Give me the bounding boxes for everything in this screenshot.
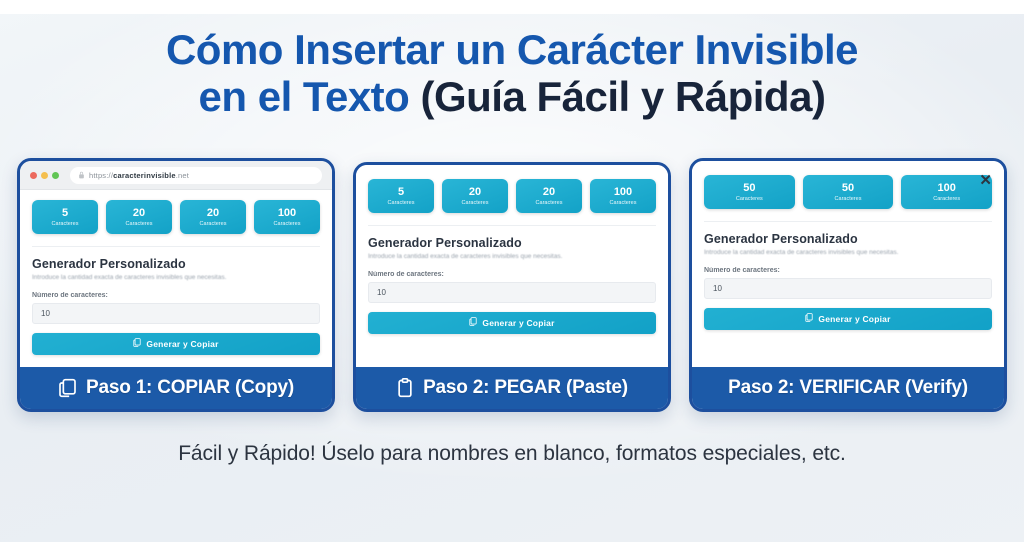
preset-label: Caracteres bbox=[805, 196, 892, 203]
url-suffix: .net bbox=[176, 171, 189, 180]
preset-number: 100 bbox=[592, 186, 654, 198]
character-count-input[interactable]: 10 bbox=[368, 282, 656, 303]
step-card-2[interactable]: 5 Caracteres 20 Caracteres 20 Caracteres bbox=[353, 162, 671, 412]
section-divider bbox=[704, 221, 992, 222]
browser-chrome-bar: https://caracterinvisible.net bbox=[20, 161, 332, 190]
section-divider bbox=[32, 246, 320, 247]
title-line-2-blue: en el Texto bbox=[199, 73, 421, 120]
preset-number: 20 bbox=[108, 207, 170, 219]
character-count-input[interactable]: 10 bbox=[32, 303, 320, 324]
url-domain: caracterinvisible bbox=[113, 171, 176, 180]
maximize-window-dot[interactable] bbox=[52, 172, 59, 179]
step-footer-label: Paso 2: VERIFICAR (Verify) bbox=[728, 377, 968, 399]
preset-tiles-1: 5 Caracteres 20 Caracteres 20 Caracteres bbox=[32, 200, 320, 234]
preset-number: 5 bbox=[370, 186, 432, 198]
preset-label: Caracteres bbox=[518, 200, 580, 207]
generate-button-label: Generar y Copiar bbox=[818, 314, 890, 324]
clipboard-icon bbox=[396, 378, 414, 398]
preset-label: Caracteres bbox=[370, 200, 432, 207]
bottom-caption: Fácil y Rápido! Úselo para nombres en bl… bbox=[0, 442, 1024, 466]
generate-button-label: Generar y Copiar bbox=[146, 339, 218, 349]
step-footer-3: Paso 2: VERIFICAR (Verify) bbox=[692, 367, 1004, 409]
preset-number: 50 bbox=[805, 182, 892, 194]
preset-label: Caracteres bbox=[903, 196, 990, 203]
preset-number: 100 bbox=[903, 182, 990, 194]
close-window-dot[interactable] bbox=[30, 172, 37, 179]
content-layer: Cómo Insertar un Carácter Invisible en e… bbox=[0, 0, 1024, 560]
preset-label: Caracteres bbox=[592, 200, 654, 207]
character-count-label: Número de caracteres: bbox=[32, 292, 320, 299]
preset-tile[interactable]: 20 Caracteres bbox=[442, 179, 508, 213]
lock-icon bbox=[78, 166, 85, 184]
preset-tiles-2: 5 Caracteres 20 Caracteres 20 Caracteres bbox=[368, 179, 656, 213]
step-card-3[interactable]: 50 Caracteres 50 Caracteres 100 Caracter… bbox=[689, 158, 1007, 412]
generator-subtitle: Introduce la cantidad exacta de caracter… bbox=[704, 249, 992, 257]
preset-label: Caracteres bbox=[256, 221, 318, 228]
preset-tile[interactable]: 20 Caracteres bbox=[106, 200, 172, 234]
preset-tile[interactable]: 20 Caracteres bbox=[180, 200, 246, 234]
browser-address-bar[interactable]: https://caracterinvisible.net bbox=[70, 167, 322, 184]
browser-url-text: https://caracterinvisible.net bbox=[89, 171, 189, 180]
step-footer-1: Paso 1: COPIAR (Copy) bbox=[20, 367, 332, 409]
preset-label: Caracteres bbox=[34, 221, 96, 228]
preset-tile[interactable]: 5 Caracteres bbox=[32, 200, 98, 234]
generator-panel-1: 5 Caracteres 20 Caracteres 20 Caracteres bbox=[20, 190, 332, 367]
character-count-input[interactable]: 10 bbox=[704, 278, 992, 299]
preset-label: Caracteres bbox=[108, 221, 170, 228]
generator-subtitle: Introduce la cantidad exacta de caracter… bbox=[32, 274, 320, 282]
character-count-label: Número de caracteres: bbox=[368, 271, 656, 278]
title-line-2-dark: (Guía Fácil y Rápida) bbox=[421, 73, 826, 120]
preset-number: 20 bbox=[444, 186, 506, 198]
preset-number: 20 bbox=[182, 207, 244, 219]
copy-icon bbox=[469, 317, 477, 328]
minimize-window-dot[interactable] bbox=[41, 172, 48, 179]
step-footer-label: Paso 2: PEGAR (Paste) bbox=[423, 377, 628, 399]
step-footer-2: Paso 2: PEGAR (Paste) bbox=[356, 367, 668, 409]
copy-icon bbox=[805, 313, 813, 324]
preset-tile[interactable]: 100 Caracteres bbox=[254, 200, 320, 234]
preset-number: 100 bbox=[256, 207, 318, 219]
preset-tile[interactable]: 100 Caracteres bbox=[901, 175, 992, 209]
preset-tile[interactable]: 50 Caracteres bbox=[704, 175, 795, 209]
step-card-1[interactable]: https://caracterinvisible.net 5 Caracter… bbox=[17, 158, 335, 412]
preset-tile[interactable]: 5 Caracteres bbox=[368, 179, 434, 213]
preset-label: Caracteres bbox=[444, 200, 506, 207]
preset-tile[interactable]: 50 Caracteres bbox=[803, 175, 894, 209]
preset-tile[interactable]: 20 Caracteres bbox=[516, 179, 582, 213]
title-line-2: en el Texto (Guía Fácil y Rápida) bbox=[0, 73, 1024, 120]
generator-heading: Generador Personalizado bbox=[368, 236, 656, 250]
generate-and-copy-button[interactable]: Generar y Copiar bbox=[368, 312, 656, 334]
character-count-label: Número de caracteres: bbox=[704, 267, 992, 274]
generate-and-copy-button[interactable]: Generar y Copiar bbox=[32, 333, 320, 355]
copy-icon bbox=[133, 338, 141, 349]
generator-panel-3: 50 Caracteres 50 Caracteres 100 Caracter… bbox=[692, 161, 1004, 367]
preset-number: 20 bbox=[518, 186, 580, 198]
title-line-1: Cómo Insertar un Carácter Invisible bbox=[0, 26, 1024, 73]
generate-and-copy-button[interactable]: Generar y Copiar bbox=[704, 308, 992, 330]
infographic-root: Cómo Insertar un Carácter Invisible en e… bbox=[0, 0, 1024, 560]
window-control-dots[interactable] bbox=[28, 172, 59, 179]
url-prefix: https:// bbox=[89, 171, 113, 180]
step-footer-label: Paso 1: COPIAR (Copy) bbox=[86, 377, 294, 399]
preset-number: 50 bbox=[706, 182, 793, 194]
generate-button-label: Generar y Copiar bbox=[482, 318, 554, 328]
top-white-band bbox=[0, 0, 1024, 14]
generator-heading: Generador Personalizado bbox=[32, 257, 320, 271]
page-title: Cómo Insertar un Carácter Invisible en e… bbox=[0, 0, 1024, 120]
preset-number: 5 bbox=[34, 207, 96, 219]
preset-tile[interactable]: 100 Caracteres bbox=[590, 179, 656, 213]
generator-heading: Generador Personalizado bbox=[704, 232, 992, 246]
close-icon[interactable]: ✕ bbox=[979, 173, 992, 188]
steps-card-row: https://caracterinvisible.net 5 Caracter… bbox=[0, 158, 1024, 412]
preset-label: Caracteres bbox=[706, 196, 793, 203]
preset-label: Caracteres bbox=[182, 221, 244, 228]
bottom-white-band bbox=[0, 542, 1024, 560]
section-divider bbox=[368, 225, 656, 226]
preset-tiles-3: 50 Caracteres 50 Caracteres 100 Caracter… bbox=[704, 175, 992, 209]
generator-panel-2: 5 Caracteres 20 Caracteres 20 Caracteres bbox=[356, 165, 668, 367]
generator-subtitle: Introduce la cantidad exacta de caracter… bbox=[368, 253, 656, 261]
copy-icon bbox=[58, 378, 77, 398]
